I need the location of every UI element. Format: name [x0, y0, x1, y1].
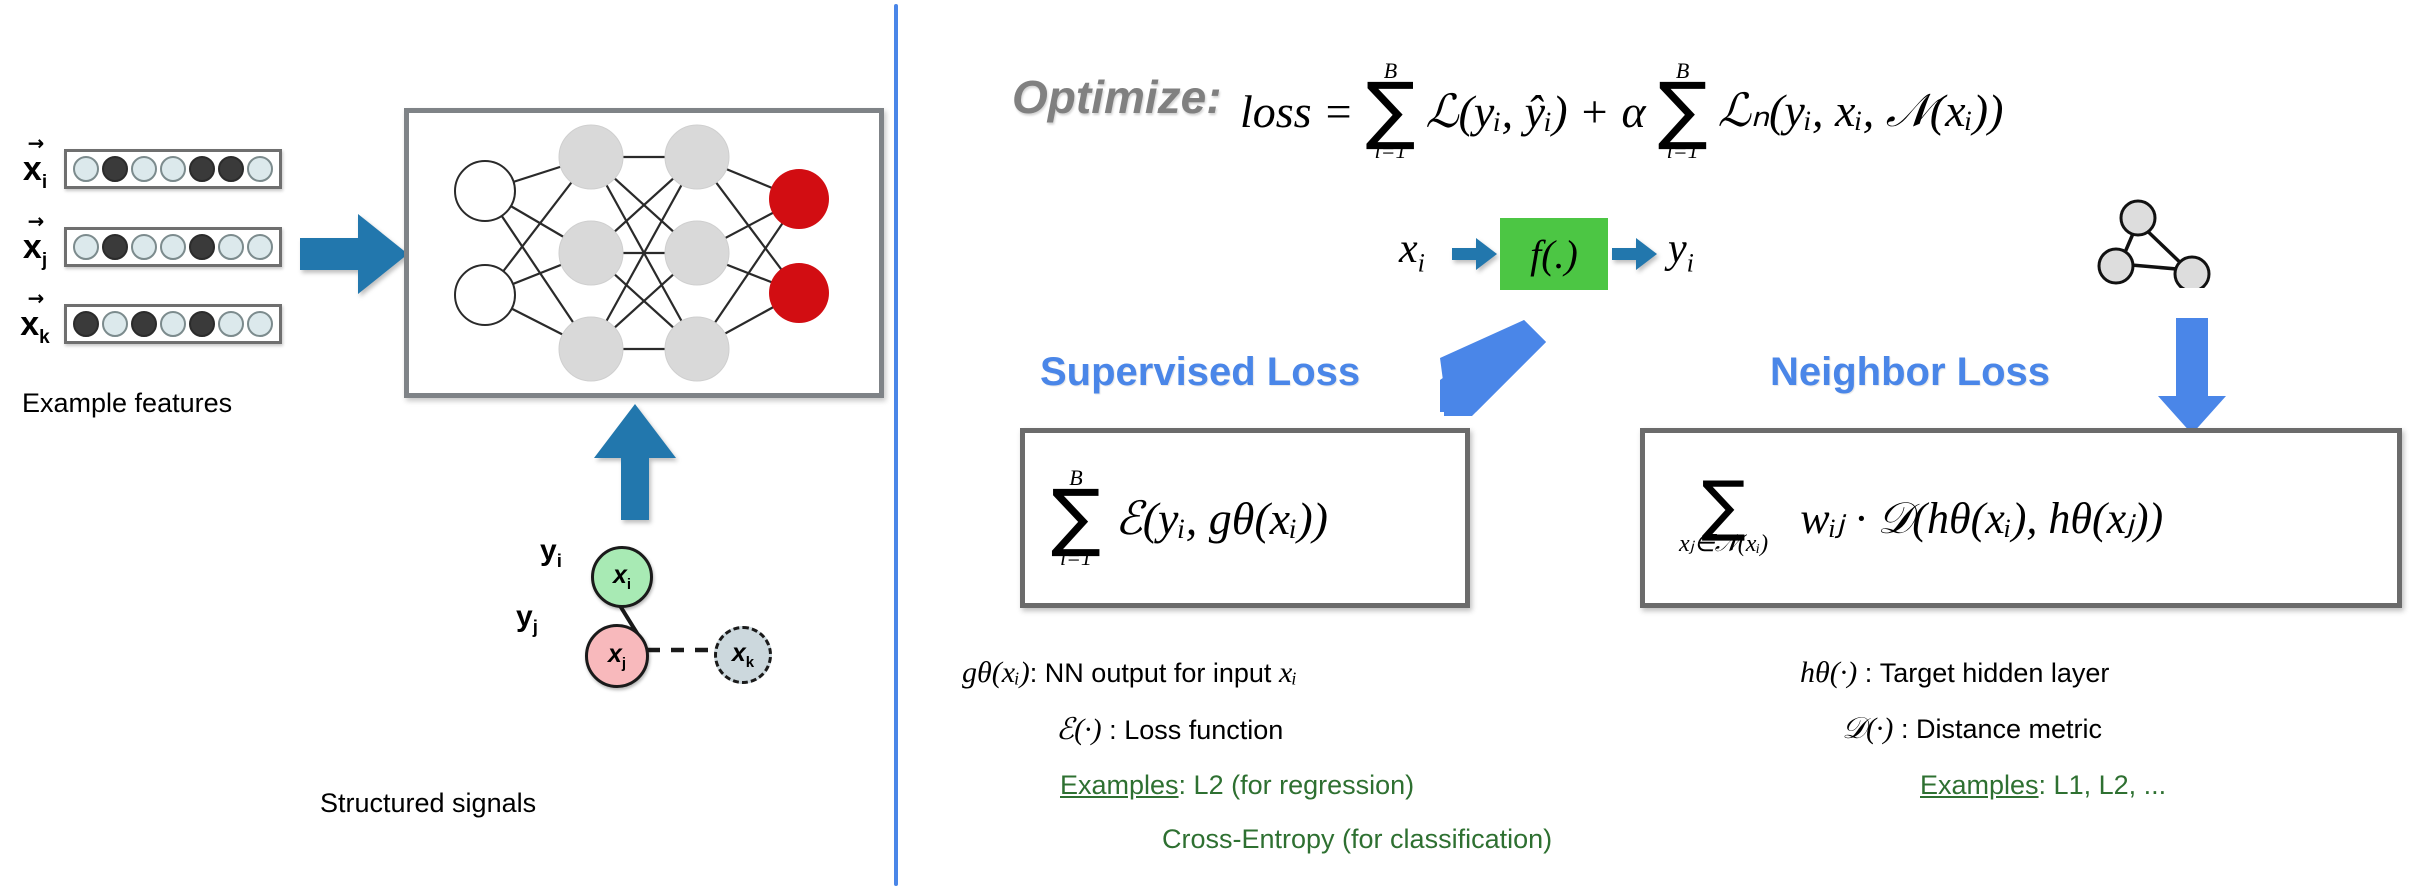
legend-symbol: ℰ(·) — [1056, 713, 1102, 746]
feature-cell — [247, 234, 273, 260]
feature-cell — [218, 234, 244, 260]
output-subscript: i — [1687, 248, 1694, 277]
graph-label-yi: yi — [540, 534, 562, 572]
graph-label-yj: yj — [516, 600, 538, 638]
sigma-icon: ∑ — [1658, 82, 1708, 140]
node-subscript: j — [622, 655, 626, 672]
main-loss-equation: loss = B ∑ i=1 ℒ(yᵢ, ŷᵢ) + α B ∑ i=1 ℒₙ(… — [1240, 36, 2003, 186]
feature-vector-box — [64, 149, 282, 189]
feature-cell — [247, 311, 273, 337]
nn-hidden-node — [665, 221, 729, 285]
examples-value: : L1, L2, ... — [2039, 770, 2167, 800]
up-arrow-icon — [592, 402, 678, 522]
neighbor-examples-line: Examples: L1, L2, ... — [1920, 770, 2166, 801]
neighbor-term: ℒₙ(yᵢ, xᵢ, 𝒩(xᵢ)) — [1708, 83, 2004, 139]
legend-text: Loss function — [1117, 715, 1284, 745]
label-symbol: y — [516, 600, 533, 633]
nn-hidden-node — [559, 221, 623, 285]
equals-sign: = — [1312, 85, 1366, 138]
vector-symbol: x — [23, 228, 42, 266]
feature-vector-row: → xk — [6, 293, 282, 355]
graph-node-xi[interactable]: xi — [591, 546, 653, 608]
structured-signals-graph: xi xj xk yi yj — [492, 528, 802, 758]
pipeline-output-label: yi — [1668, 225, 1694, 278]
pipeline-input-label: xi — [1399, 225, 1425, 278]
supervised-loss-box: B ∑ i=1 ℰ(yᵢ, gθ(xᵢ)) — [1020, 428, 1470, 608]
loss-lhs: loss — [1240, 85, 1312, 138]
neighbor-graph-icon — [2096, 178, 2216, 288]
legend-text: NN output for input — [1037, 658, 1279, 688]
function-label: f(.) — [1530, 231, 1578, 278]
label-subscript: i — [557, 550, 562, 571]
summation-neighbor: ∑ xⱼ∈𝒩(xᵢ) — [1679, 480, 1768, 555]
right-arrow-icon — [1452, 236, 1498, 272]
supervised-examples-line2: Cross-Entropy (for classification) — [1162, 824, 1552, 855]
feature-cell — [247, 156, 273, 182]
feature-cell — [102, 156, 128, 182]
feature-cell — [189, 234, 215, 260]
neural-network-box — [404, 108, 884, 398]
examples-value: : L2 (for regression) — [1179, 770, 1415, 800]
feature-cell — [73, 234, 99, 260]
vector-subscript: k — [39, 327, 50, 348]
panel-divider — [894, 4, 898, 886]
legend-trailing-symbol: xᵢ — [1279, 656, 1297, 689]
function-box: f(.) — [1500, 218, 1608, 290]
plus-sign: + — [1568, 85, 1622, 138]
feature-vector-box — [64, 304, 282, 344]
supervised-term: ℒ(yᵢ, ŷᵢ) — [1415, 84, 1567, 138]
feature-cell — [218, 156, 244, 182]
nn-input-node — [455, 161, 515, 221]
diagonal-down-left-arrow-icon — [1424, 292, 1574, 417]
vector-subscript: i — [42, 172, 47, 193]
structured-signals-caption: Structured signals — [320, 788, 536, 819]
node-subscript: i — [627, 576, 631, 593]
sum-lower-limit: i=1 — [1375, 140, 1407, 162]
legend-separator: : — [1109, 715, 1117, 745]
feature-cell — [102, 311, 128, 337]
neighbor-legend-line: hθ(·) : Target hidden layer — [1800, 656, 2109, 690]
summation-supervised: B ∑ i=1 — [1051, 467, 1101, 569]
feature-vector-box — [64, 227, 282, 267]
feature-vector-row: → xj — [6, 216, 282, 278]
nn-input-node — [455, 265, 515, 325]
feature-cell — [102, 234, 128, 260]
node-label: x — [608, 640, 622, 668]
nn-output-node — [769, 169, 829, 229]
graph-node-xk[interactable]: xk — [714, 626, 772, 684]
feature-cell — [160, 234, 186, 260]
feature-vector-row: → xi — [6, 138, 282, 200]
nn-hidden-node — [559, 317, 623, 381]
feature-vector-label: → xj — [6, 216, 64, 278]
feature-vector-label: → xi — [6, 138, 64, 200]
feature-vector-label: → xk — [6, 293, 64, 355]
nn-output-node — [769, 263, 829, 323]
sum-lower-limit: i=1 — [1667, 140, 1699, 162]
down-arrow-icon — [2156, 318, 2228, 436]
feature-cell — [73, 156, 99, 182]
output-symbol: y — [1668, 226, 1687, 272]
input-symbol: x — [1399, 226, 1418, 272]
neighbor-loss-body: wᵢⱼ · 𝒟(hθ(xᵢ), hθ(xⱼ)) — [1768, 493, 2163, 544]
examples-label: Examples — [1920, 770, 2039, 800]
right-arrow-icon — [300, 208, 410, 300]
example-features-caption: Example features — [22, 388, 232, 419]
sigma-icon: ∑ — [1366, 82, 1416, 140]
graph-node-xj[interactable]: xj — [585, 624, 649, 688]
summation-2: B ∑ i=1 — [1658, 60, 1708, 162]
feature-cell — [131, 311, 157, 337]
legend-symbol: gθ(xᵢ) — [962, 656, 1030, 689]
optimize-label: Optimize: — [1012, 70, 1222, 124]
input-subscript: i — [1418, 248, 1425, 277]
vector-subscript: j — [42, 250, 47, 271]
legend-symbol: hθ(·) — [1800, 656, 1857, 689]
node-label: x — [732, 639, 746, 667]
feature-cell — [73, 311, 99, 337]
neighbor-legend-line: 𝒟(·) : Distance metric — [1842, 712, 2102, 746]
node-label: x — [613, 561, 627, 589]
nn-hidden-node — [559, 125, 623, 189]
nn-hidden-node — [665, 317, 729, 381]
supervised-loss-body: ℰ(yᵢ, gθ(xᵢ)) — [1101, 491, 1328, 545]
supervised-legend-line: gθ(xᵢ): NN output for input xᵢ — [962, 656, 1297, 690]
sum-lower-limit: xⱼ∈𝒩(xᵢ) — [1679, 532, 1768, 556]
legend-text: Distance metric — [1908, 714, 2102, 744]
label-symbol: y — [540, 534, 557, 567]
supervised-examples-line: Examples: L2 (for regression) — [1060, 770, 1414, 801]
feature-cell — [131, 234, 157, 260]
feature-cell — [131, 156, 157, 182]
summation-1: B ∑ i=1 — [1366, 60, 1416, 162]
sigma-icon: ∑ — [1701, 480, 1745, 531]
feature-cell — [189, 156, 215, 182]
vector-symbol: x — [20, 305, 39, 343]
nn-hidden-node — [665, 125, 729, 189]
examples-label: Examples — [1060, 770, 1179, 800]
right-arrow-icon — [1612, 236, 1658, 272]
neural-network-diagram — [409, 113, 879, 393]
legend-symbol: 𝒟(·) — [1842, 712, 1893, 745]
sigma-icon: ∑ — [1051, 489, 1101, 547]
neighbor-loss-title: Neighbor Loss — [1770, 350, 2050, 395]
node-subscript: k — [746, 654, 754, 671]
sum-lower-limit: i=1 — [1060, 547, 1092, 569]
legend-text: Target hidden layer — [1872, 658, 2109, 688]
alpha-symbol: α — [1622, 85, 1646, 138]
label-subscript: j — [533, 616, 538, 637]
feature-cell — [189, 311, 215, 337]
feature-cell — [218, 311, 244, 337]
neighbor-loss-box: ∑ xⱼ∈𝒩(xᵢ) wᵢⱼ · 𝒟(hθ(xᵢ), hθ(xⱼ)) — [1640, 428, 2402, 608]
feature-cell — [160, 156, 186, 182]
feature-cell — [160, 311, 186, 337]
supervised-legend-line: ℰ(·) : Loss function — [1056, 712, 1283, 747]
supervised-loss-title: Supervised Loss — [1040, 350, 1360, 395]
vector-symbol: x — [23, 150, 42, 188]
